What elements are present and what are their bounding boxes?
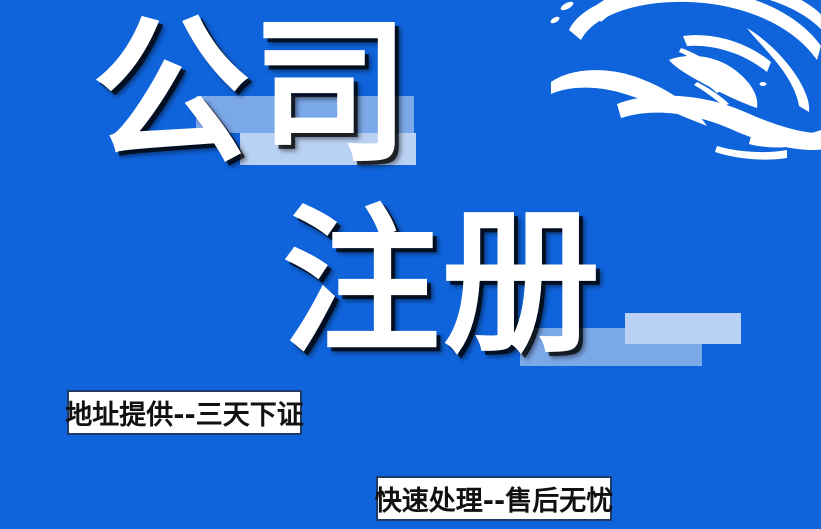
promo-banner: 公司 注册 地址提供--三天下证 快速处理--售后无忧 [0,0,821,529]
caption-address-and-cert: 地址提供--三天下证 [67,390,302,435]
headline-line-one: 公司 [92,14,412,172]
highlight-block-zhuce-upper [625,313,741,344]
brush-splash-icon [521,0,821,161]
caption-fast-service: 快速处理--售后无忧 [376,476,612,521]
headline-line-two: 注册 [282,204,602,362]
